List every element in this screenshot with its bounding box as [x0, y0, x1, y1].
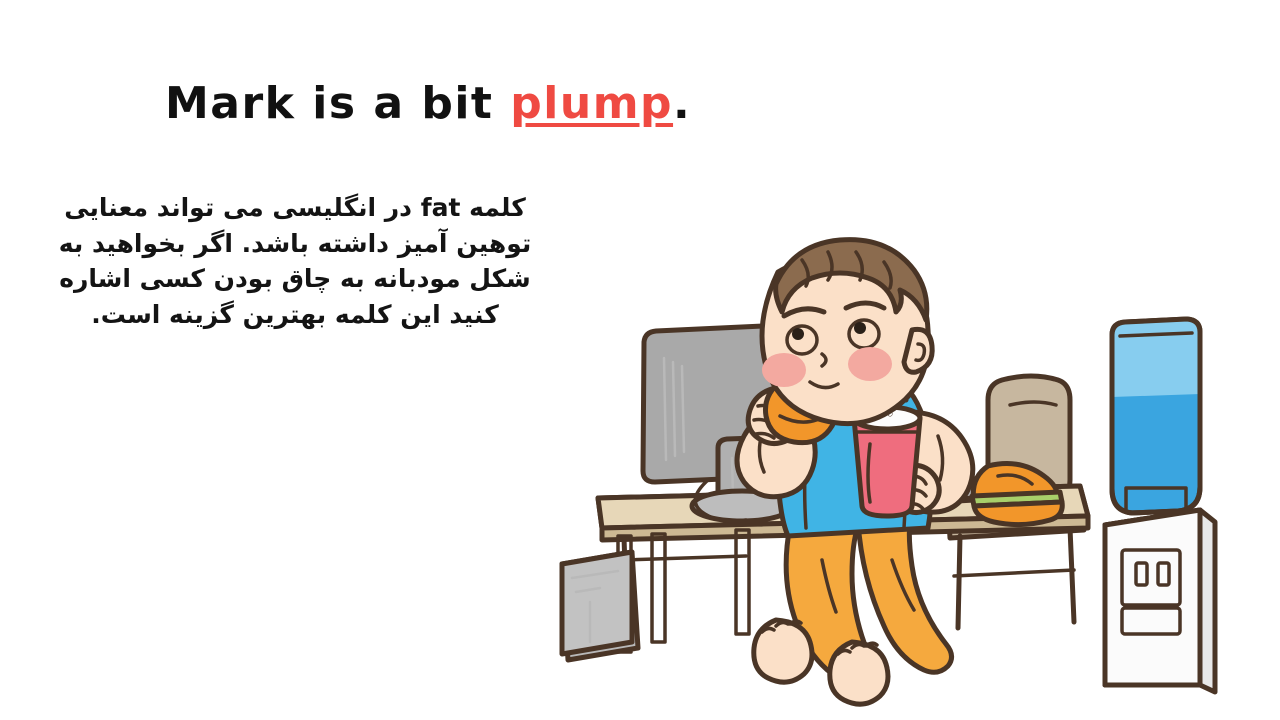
slide-canvas: Mark is a bit plump. کلمه fat در انگلیسی… — [0, 0, 1280, 720]
water-cooler — [1105, 319, 1215, 692]
title-highlight-word: plump — [510, 78, 673, 129]
illustration-boy-at-computer: .ol { stroke:#4a3526; stroke-width:5; st… — [540, 230, 1280, 710]
title-trailing-punctuation: . — [673, 78, 691, 129]
blush-left — [762, 353, 806, 387]
blush-right — [848, 347, 892, 381]
title-lead-text: Mark is a bit — [165, 78, 510, 129]
boy-head — [762, 240, 932, 424]
persian-explanation-paragraph: کلمه fat در انگلیسی می تواند معنایی توهی… — [40, 190, 550, 332]
page-title: Mark is a bit plump. — [165, 78, 685, 129]
pc-tower — [562, 552, 638, 660]
boy-character — [737, 240, 973, 705]
